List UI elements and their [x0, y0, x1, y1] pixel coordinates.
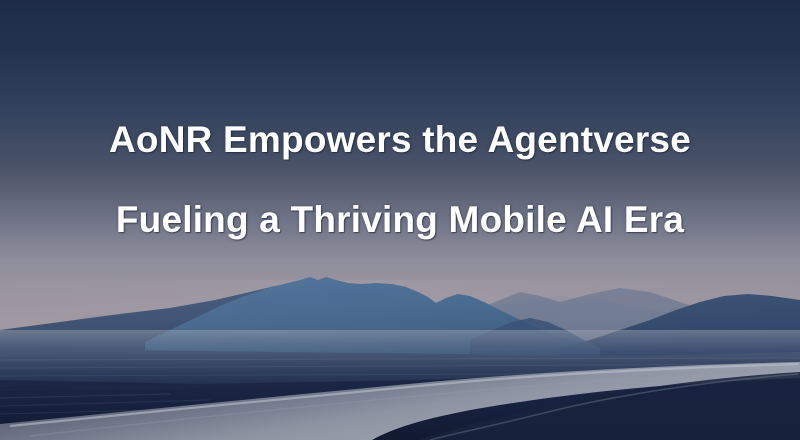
promotional-banner: AoNR Empowers the Agentverse Fueling a T…	[0, 0, 800, 440]
landscape-illustration	[0, 0, 800, 440]
